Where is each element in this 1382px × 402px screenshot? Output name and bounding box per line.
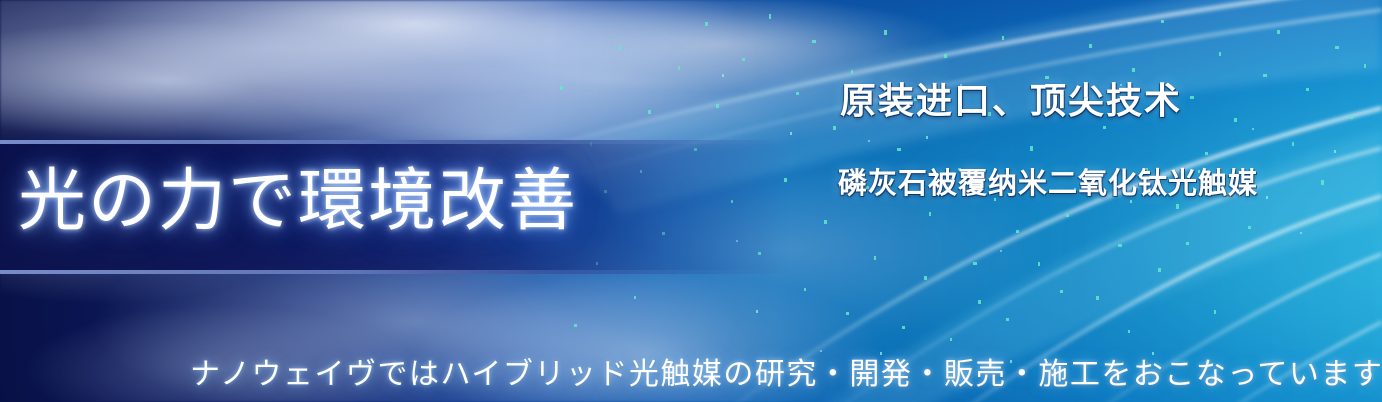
page-title: 光の力で環境改善 [18,168,578,236]
sky-right-glow-layer [0,0,1382,402]
lower-glow-wash [760,130,1382,402]
light-arc-lower-2 [1030,254,1382,402]
sky-left-darken-layer [0,0,1382,402]
company-tagline: ナノウェイヴではハイブリッド光触媒の研究・開発・販売・施工をおこなっています [190,349,1382,393]
particle-sparkle-layer [0,0,1382,402]
light-arc-swoosh-layer [0,0,1382,402]
sky-gradient-layer [0,0,1382,402]
light-arc-top-2 [500,10,1382,196]
vignette-overlay [0,0,1382,402]
cloud-texture-layer [0,0,1382,402]
light-arc-mid-2 [790,148,1382,402]
light-arc-top [470,0,1382,168]
upper-glow-band [560,0,1382,214]
light-arc-lower [905,196,1382,402]
cloud-fade-layer [0,0,1382,402]
headline-band [0,140,790,274]
hero-banner: 光の力で環境改善 原装进口、顶尖技术 磷灰石被覆纳米二氧化钛光触媒 ナノウェイヴ… [0,0,1382,402]
promo-headline-secondary: 磷灰石被覆纳米二氧化钛光触媒 [838,160,1258,202]
light-arc-mid [700,108,1382,402]
light-arc-lower-3 [1150,322,1382,402]
promo-headline-primary: 原装进口、顶尖技术 [840,72,1182,124]
